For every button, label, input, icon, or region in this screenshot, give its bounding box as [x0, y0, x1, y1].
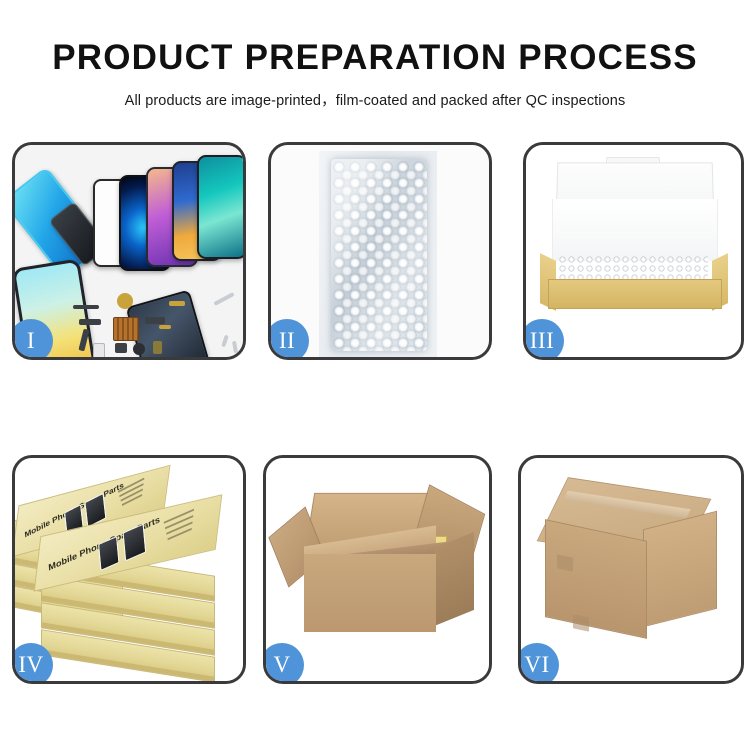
box-print-spec-a4: [122, 494, 142, 506]
part-button-flex: [145, 317, 165, 324]
stacked-boxes-scene: Mobile Phone Spare Parts Mobile Phone Sp…: [15, 458, 243, 681]
part-flex-cable: [78, 329, 89, 352]
part-vibrator: [115, 343, 127, 353]
sealed-carton-scene: [521, 458, 741, 681]
part-screw-1: [221, 335, 229, 348]
step-badge-1: I: [12, 319, 53, 360]
part-copper-grid: [113, 317, 139, 341]
carton-side-face: [643, 511, 717, 627]
step-badge-5: V: [263, 643, 304, 684]
part-battery-connector: [153, 341, 162, 354]
box-inner-wall: [552, 199, 718, 261]
plastic-sheen: [331, 159, 427, 351]
process-step-6: VI: [518, 455, 744, 684]
step-badge-4: IV: [12, 643, 53, 684]
process-step-4: Mobile Phone Spare Parts Mobile Phone Sp…: [12, 455, 246, 684]
process-step-1: I: [12, 142, 246, 360]
open-carton-scene: [266, 458, 489, 681]
carton-front-face: [304, 554, 436, 632]
part-sim-tray: [93, 343, 105, 357]
process-step-3: III: [523, 142, 744, 360]
process-step-grid: I II III: [0, 0, 750, 750]
step-badge-3: III: [523, 319, 564, 360]
part-gold-pin: [159, 325, 171, 329]
part-camera-lens: [133, 343, 145, 355]
box-front-panel: [548, 279, 722, 309]
part-gold-connector: [169, 301, 185, 306]
bubble-wrap-scene: [271, 145, 489, 357]
part-flex-strip: [73, 305, 99, 309]
spare-parts-cluster: [73, 291, 243, 357]
phone-teal-gradient: [197, 155, 243, 259]
part-camera-module: [79, 319, 101, 325]
part-speaker-round: [117, 293, 133, 309]
part-tweezers: [213, 292, 234, 306]
step-badge-6: VI: [518, 643, 559, 684]
step-badge-2: II: [268, 319, 309, 360]
product-parts-scene: [15, 145, 243, 357]
process-step-2: II: [268, 142, 492, 360]
part-screw-2: [232, 341, 238, 354]
carton-right-face: [434, 532, 474, 626]
process-step-5: V: [263, 455, 492, 684]
bubble-wrapped-product: [331, 159, 427, 351]
